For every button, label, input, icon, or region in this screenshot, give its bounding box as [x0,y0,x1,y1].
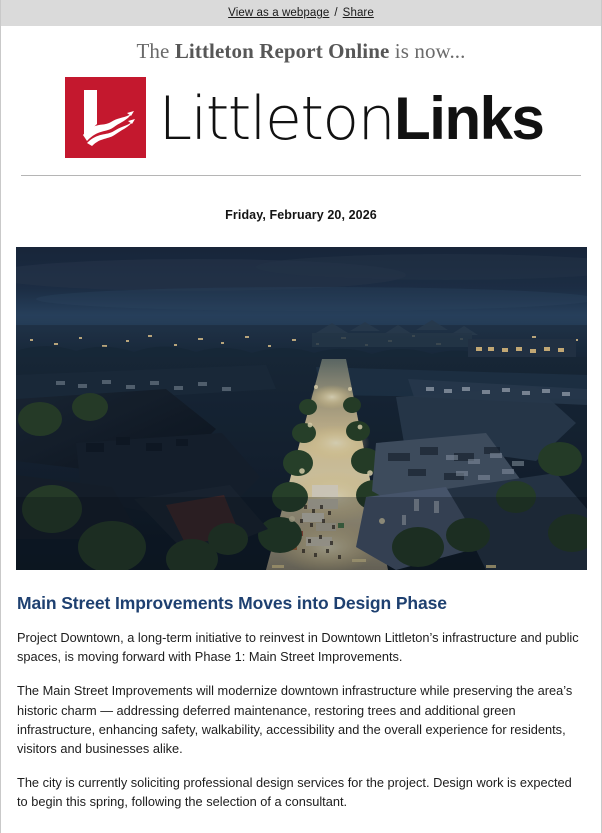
article-paragraph: The city is currently soliciting profess… [17,773,585,811]
kicker-suffix: is now... [389,39,465,63]
logo-row: LittletonLinks [1,77,601,158]
wordmark-links: Links [394,85,543,152]
hero-image [16,247,587,570]
article-paragraph: The Main Street Improvements will modern… [17,681,585,758]
article: Main Street Improvements Moves into Desi… [1,593,601,812]
littleton-logo-mark-icon [65,77,146,158]
utility-banner: View as a webpage / Share [1,0,601,26]
masthead-kicker: The Littleton Report Online is now... [1,39,601,64]
masthead-divider [21,175,581,176]
dateline: Friday, February 20, 2026 [1,208,601,222]
article-paragraph: Project Downtown, a long-term initiative… [17,628,585,666]
wordmark: LittletonLinks [159,90,544,148]
masthead: The Littleton Report Online is now... Li… [1,26,601,222]
view-as-webpage-link[interactable]: View as a webpage [228,7,329,19]
email-newsletter-page: View as a webpage / Share The Littleton … [0,0,602,833]
kicker-brand: Littleton Report Online [175,39,390,63]
kicker-prefix: The [137,39,175,63]
hero-illustration-icon [16,247,587,570]
share-link[interactable]: Share [343,7,374,19]
wordmark-littleton: Littleton [159,84,395,154]
article-headline: Main Street Improvements Moves into Desi… [17,593,585,614]
banner-separator: / [334,7,337,19]
